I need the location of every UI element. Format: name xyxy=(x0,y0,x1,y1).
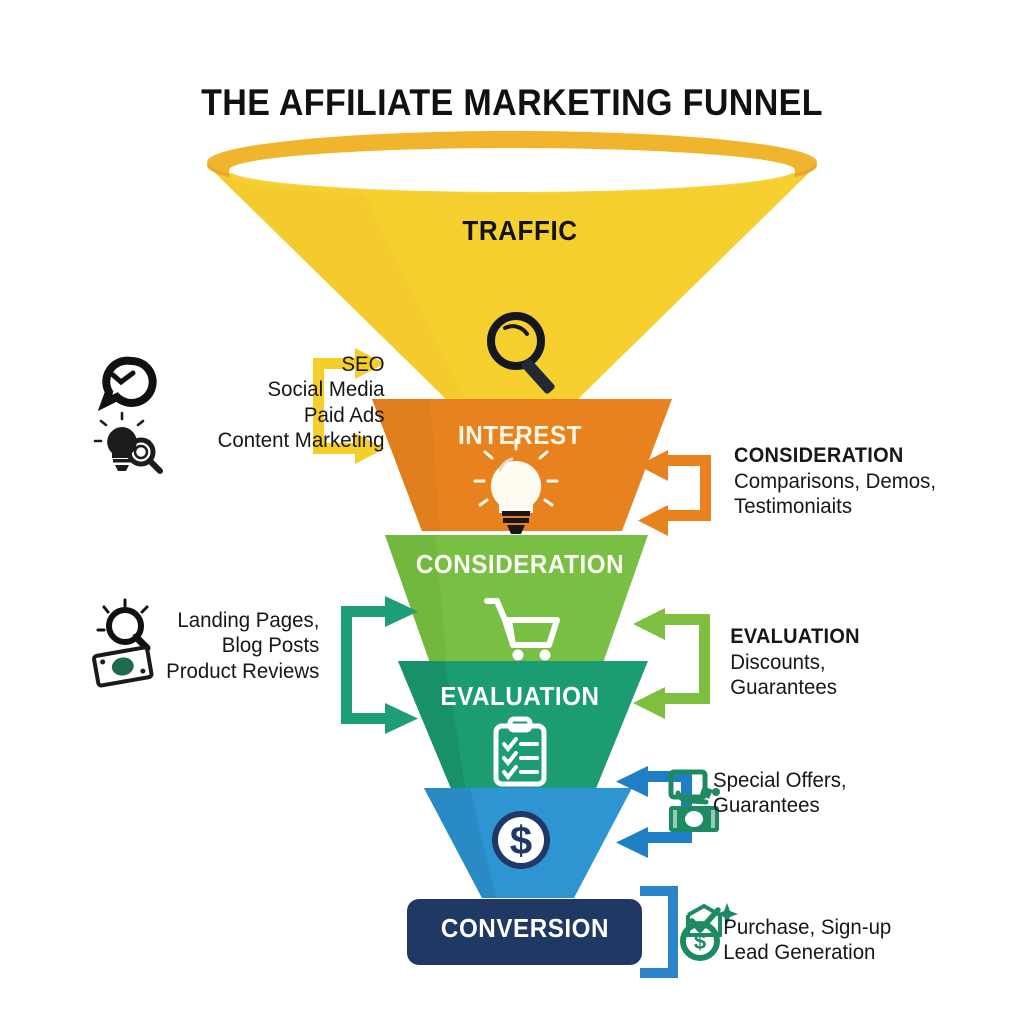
funnel-stage-conversion xyxy=(407,899,642,965)
dollar-coin-icon: $ xyxy=(492,811,550,869)
note-conversion-line-1: Purchase, Sign-up xyxy=(723,915,999,940)
banknote-icon-2 xyxy=(669,806,719,832)
note-traffic-line-1: SEO xyxy=(100,352,385,377)
dollar-circle-icon: $ xyxy=(683,924,717,958)
note-consideration-line-1: Comparisons, Demos, xyxy=(734,469,1000,494)
note-evaluation-right: EVALUATION Discounts, Guarantees xyxy=(730,625,968,700)
note-offers-line-2: Guarantees xyxy=(713,793,979,818)
note-traffic-line-2: Social Media xyxy=(100,377,385,402)
connector-consideration-right xyxy=(638,450,711,536)
note-landing-line-1: Landing Pages, xyxy=(106,608,320,633)
note-evaluation-line-2: Guarantees xyxy=(730,675,968,700)
note-traffic-line-3: Paid Ads xyxy=(100,403,385,428)
note-evaluation-line-1: Discounts, xyxy=(730,650,968,675)
note-consideration-line-2: Testimoniaits xyxy=(734,494,1000,519)
infographic-canvas: THE AFFILIATE MARKETING FUNNEL xyxy=(0,0,1024,1024)
note-consideration-heading: CONSIDERATION xyxy=(734,444,1000,469)
note-evaluation-heading: EVALUATION xyxy=(730,625,968,650)
note-landing-line-2: Blog Posts xyxy=(106,633,320,658)
note-consideration-right: CONSIDERATION Comparisons, Demos, Testim… xyxy=(734,444,1000,519)
note-offers-right: Special Offers, Guarantees xyxy=(713,768,979,819)
svg-text:$: $ xyxy=(510,819,532,863)
note-consideration-left: Landing Pages, Blog Posts Product Review… xyxy=(106,608,320,684)
note-traffic-line-4: Content Marketing xyxy=(100,428,385,453)
note-landing-line-3: Product Reviews xyxy=(106,659,320,684)
note-conversion-line-2: Lead Generation xyxy=(723,940,999,965)
note-traffic: SEO Social Media Paid Ads Content Market… xyxy=(100,352,385,453)
svg-text:$: $ xyxy=(694,929,706,954)
note-offers-line-1: Special Offers, xyxy=(713,768,979,793)
note-conversion-right: Purchase, Sign-up Lead Generation xyxy=(723,915,999,966)
connector-conversion-right xyxy=(640,886,678,978)
